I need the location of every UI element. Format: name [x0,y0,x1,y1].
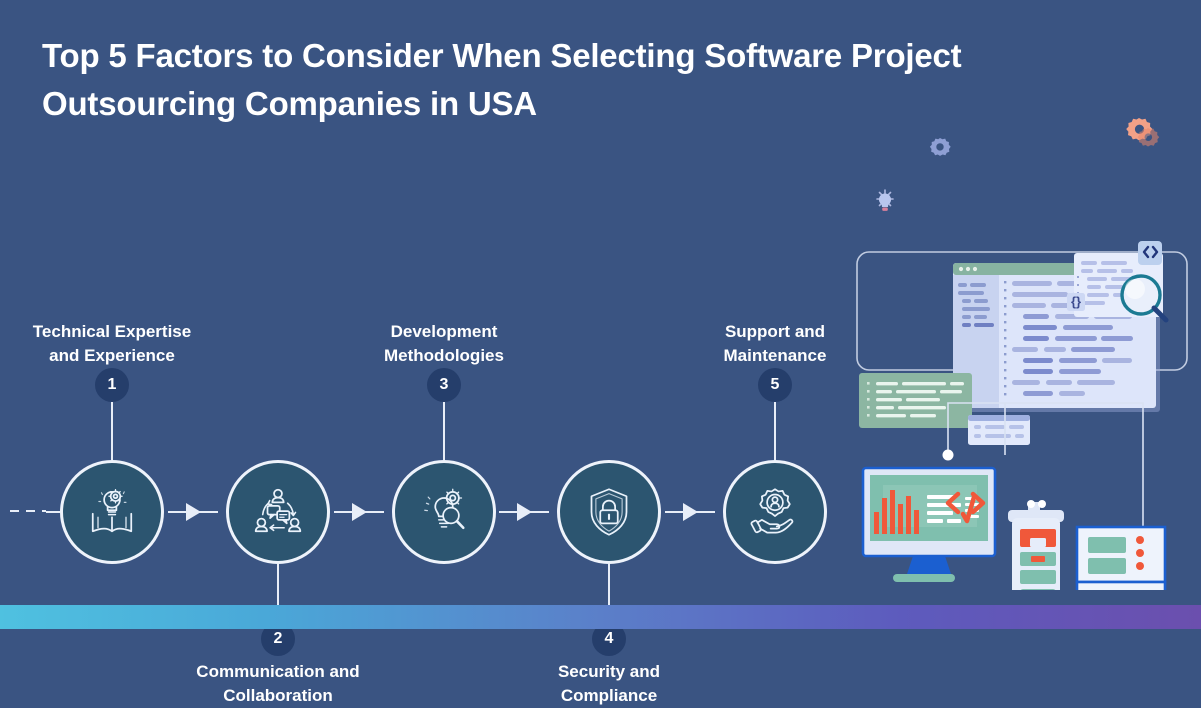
flow-step-1-label: Technical Expertise and Experience [0,320,227,368]
flow-step-1-badge: 1 [95,368,129,402]
server-tower[interactable] [1008,500,1064,590]
flow-line-start [46,511,60,513]
flow-step-5-stem [774,402,776,460]
code-tag-badge [1138,241,1162,265]
svg-text:{}: {} [1071,294,1081,309]
wire-endpoint-dot [943,450,954,461]
flow-arrow-4-5 [683,503,698,521]
hand-gear-user-icon [747,484,803,540]
terminal-panel[interactable] [859,373,972,428]
infographic-canvas: Top 5 Factors to Consider When Selecting… [0,0,1201,629]
lightbulb-magnifier-gear-icon [416,484,472,540]
process-flow: Technical Expertise and Experience 1 [0,150,860,580]
flow-step-2-label: Communication and Collaboration [163,660,393,708]
monitor-stand [907,556,951,574]
flow-step-4-label: Security and Compliance [494,660,724,708]
flow-step-2-circle[interactable] [226,460,330,564]
bottom-gradient-bar [0,605,1201,629]
software-illustration: {} [845,100,1201,590]
flow-arrow-3-4 [517,503,532,521]
gear-icon-blue [930,138,951,156]
flow-step-1-circle[interactable] [60,460,164,564]
desktop-monitor-dashboard[interactable] [863,468,995,582]
server-rack[interactable] [1077,527,1165,590]
monitor-base [893,574,955,582]
flow-step-1-label-line-2: and Experience [0,344,227,368]
flow-step-3-badge: 3 [427,368,461,402]
flow-step-5-circle[interactable] [723,460,827,564]
flow-step-3-label-line-1: Development [329,320,559,344]
flow-step-1-label-line-1: Technical Expertise [0,320,227,344]
page-title-line-1: Top 5 Factors to Consider When Selecting… [42,32,1122,80]
illustration-area: {} [845,100,1201,590]
flow-step-4-label-line-2: Compliance [494,684,724,708]
flow-step-4[interactable]: Security and Compliance 4 [557,460,661,564]
flow-step-3-label: Development Methodologies [329,320,559,368]
flow-step-2-label-line-1: Communication and [163,660,393,684]
shield-lock-icon [581,484,637,540]
team-chat-collaboration-icon [250,484,306,540]
flow-step-2-label-line-2: Collaboration [163,684,393,708]
lightbulb-icon [877,190,893,211]
flow-step-5[interactable]: Support and Maintenance 5 [723,460,827,564]
flow-arrow-1-2 [186,503,201,521]
flow-step-3[interactable]: Development Methodologies 3 [392,460,496,564]
flow-step-4-label-line-1: Security and [494,660,724,684]
flow-step-1-stem [111,402,113,460]
flow-step-3-label-line-2: Methodologies [329,344,559,368]
flow-step-5-badge: 5 [758,368,792,402]
flow-step-3-circle[interactable] [392,460,496,564]
curly-brace-badge: {} [1067,293,1085,311]
editor-gutter [1004,281,1006,395]
flow-step-2[interactable]: Communication and Collaboration 2 [226,460,330,564]
small-form-window[interactable] [968,415,1030,445]
flow-step-1[interactable]: Technical Expertise and Experience 1 [60,460,164,564]
flow-start-dashes [10,510,46,512]
flow-step-4-circle[interactable] [557,460,661,564]
flow-step-3-stem [443,402,445,460]
book-lightbulb-gear-icon [84,484,140,540]
flow-arrow-2-3 [352,503,367,521]
